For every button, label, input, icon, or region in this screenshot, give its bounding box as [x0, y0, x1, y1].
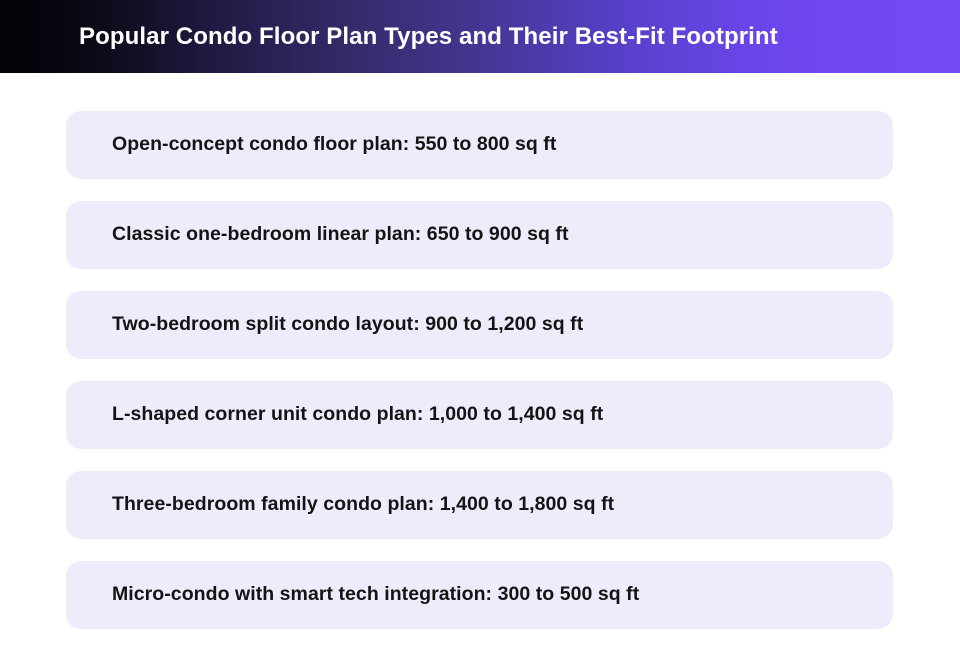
list-item: L-shaped corner unit condo plan: 1,000 t…: [66, 381, 893, 449]
list-item: Open-concept condo floor plan: 550 to 80…: [66, 111, 893, 179]
header-banner: Popular Condo Floor Plan Types and Their…: [0, 0, 960, 73]
list-item: Three-bedroom family condo plan: 1,400 t…: [66, 471, 893, 539]
list-item: Classic one-bedroom linear plan: 650 to …: [66, 201, 893, 269]
list-item-label: L-shaped corner unit condo plan: 1,000 t…: [66, 403, 603, 426]
list-item-label: Open-concept condo floor plan: 550 to 80…: [66, 133, 556, 156]
list-item-label: Classic one-bedroom linear plan: 650 to …: [66, 223, 569, 246]
page-title: Popular Condo Floor Plan Types and Their…: [0, 25, 778, 49]
floor-plan-list: Open-concept condo floor plan: 550 to 80…: [66, 111, 893, 629]
list-item-label: Micro-condo with smart tech integration:…: [66, 583, 639, 606]
list-item-label: Three-bedroom family condo plan: 1,400 t…: [66, 493, 614, 516]
infographic-root: Popular Condo Floor Plan Types and Their…: [0, 0, 960, 661]
list-item: Micro-condo with smart tech integration:…: [66, 561, 893, 629]
list-item-label: Two-bedroom split condo layout: 900 to 1…: [66, 313, 583, 336]
list-item: Two-bedroom split condo layout: 900 to 1…: [66, 291, 893, 359]
